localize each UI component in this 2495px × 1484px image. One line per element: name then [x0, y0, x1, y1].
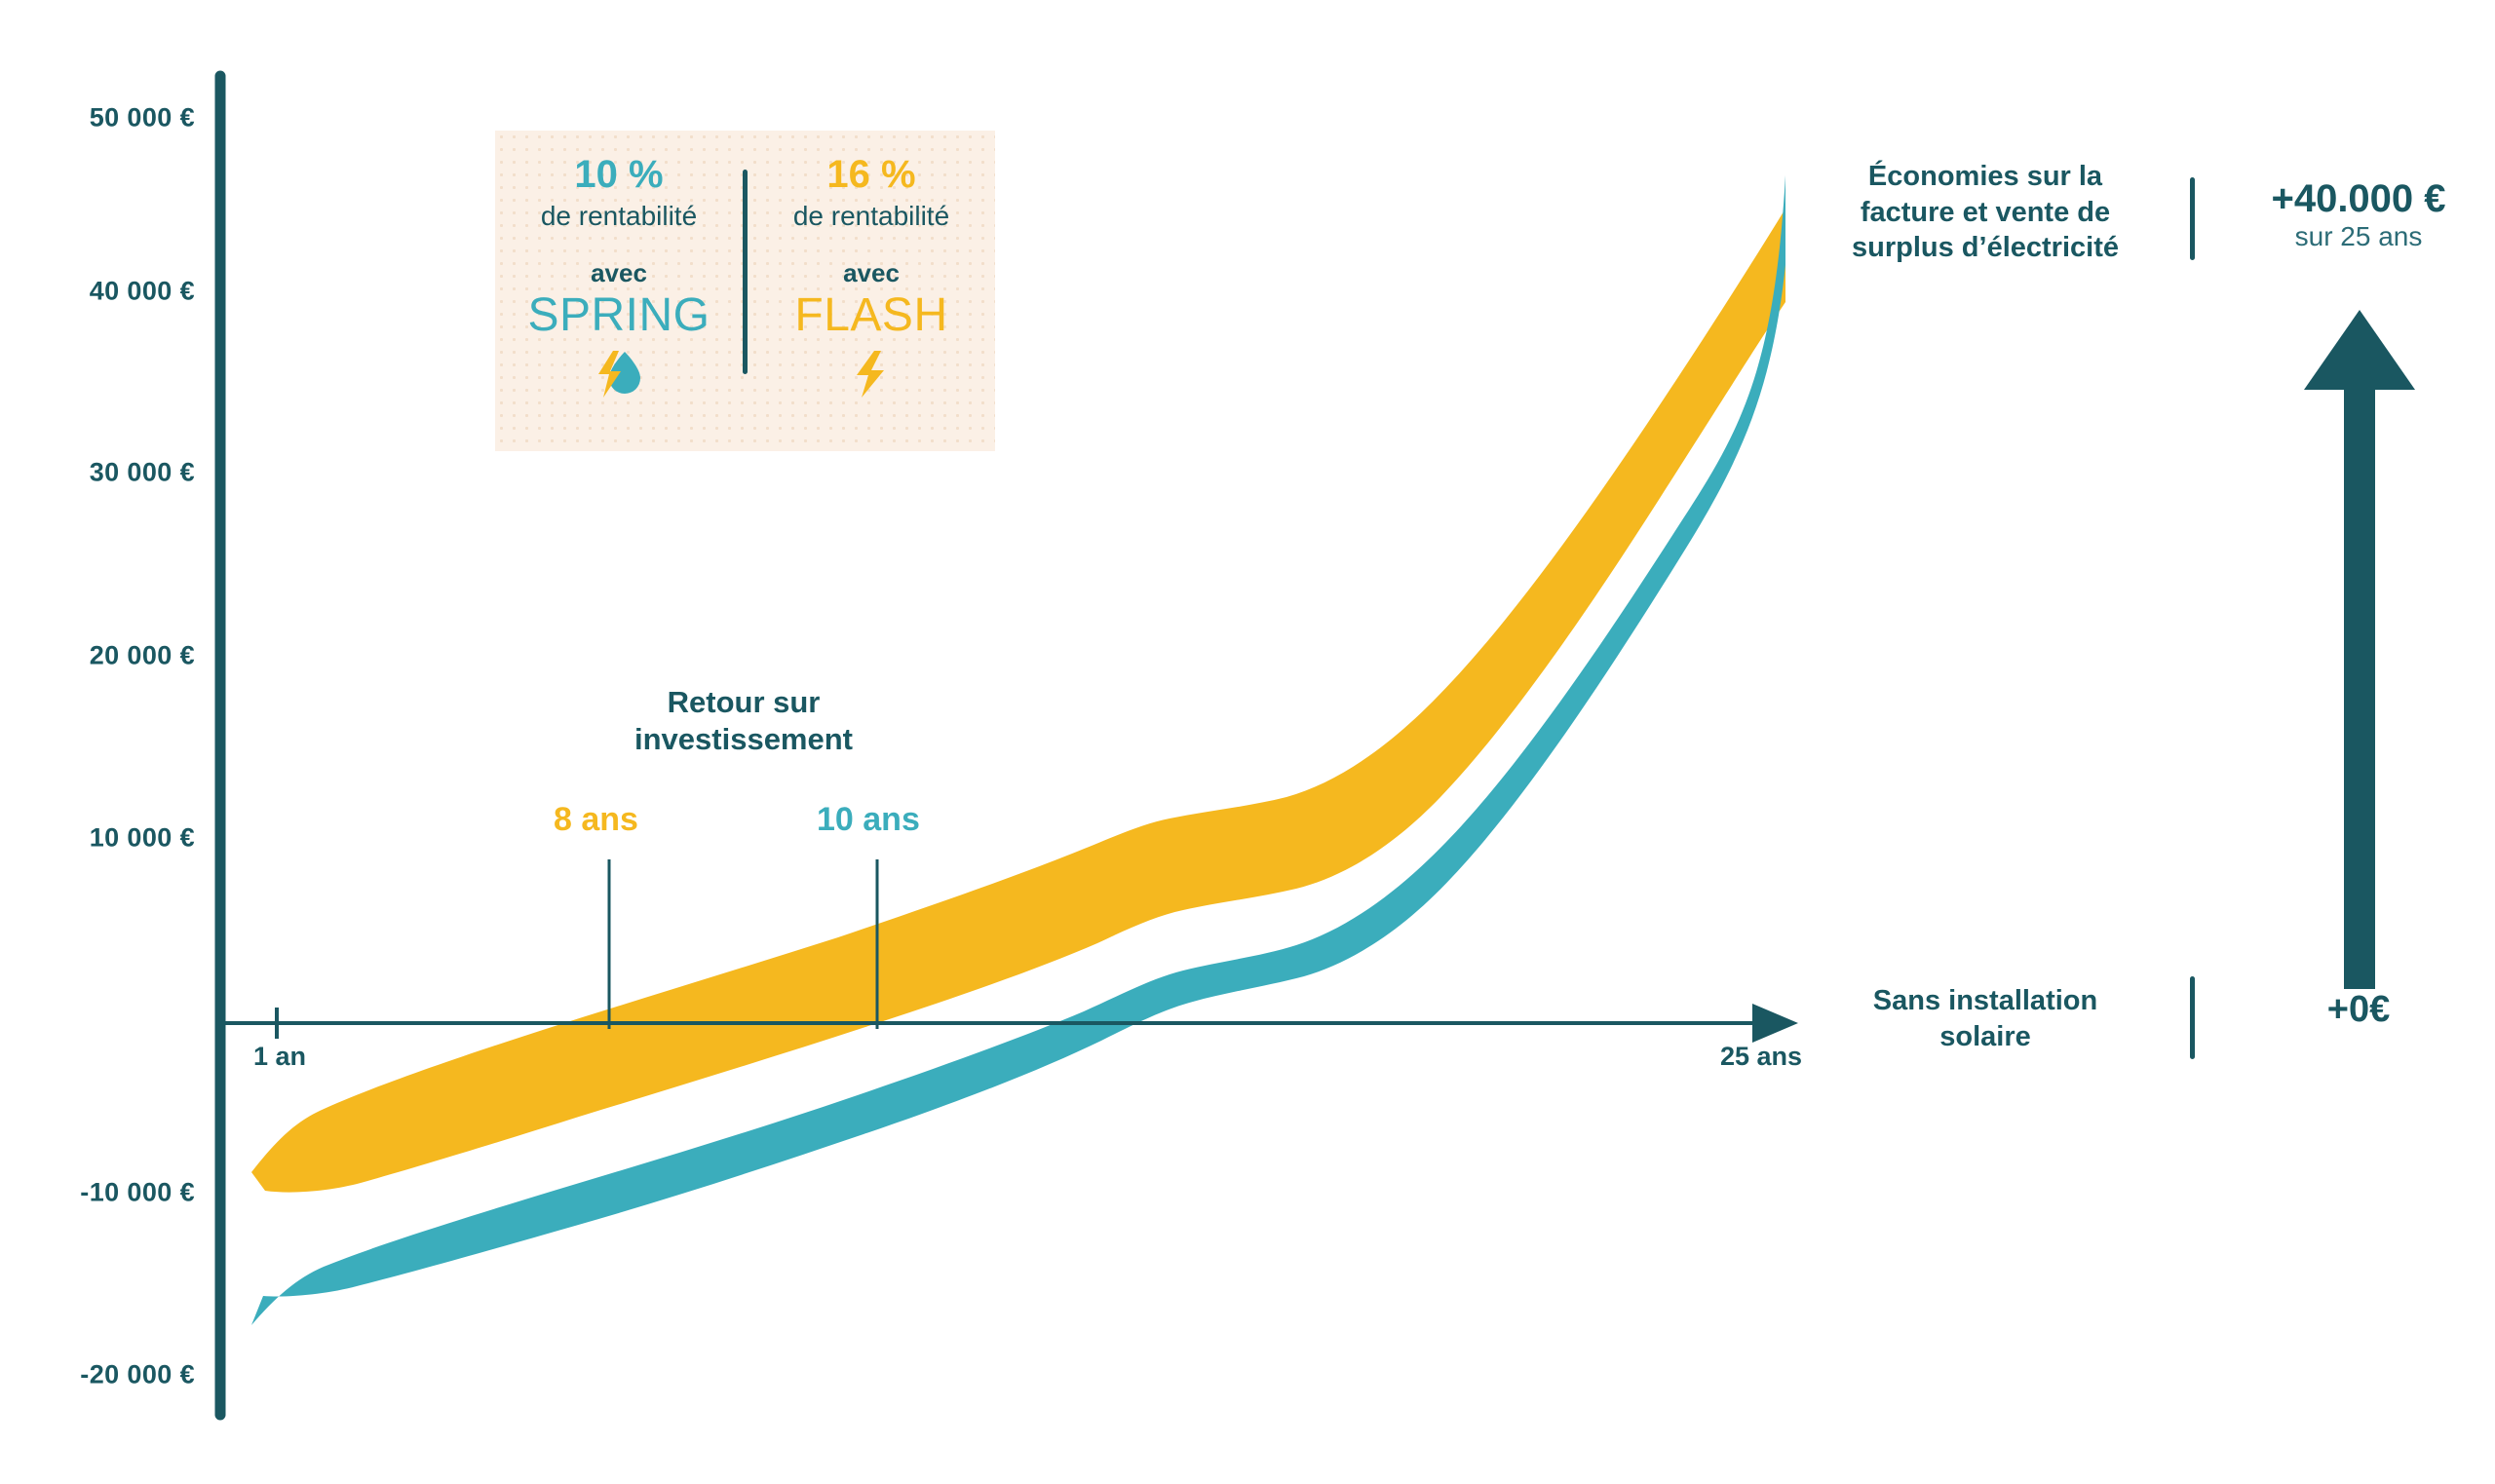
savings-description: Économies sur la facture et vente de sur…	[1834, 159, 2136, 266]
spring-brand-name: SPRING	[527, 290, 710, 342]
chart-canvas: 50 000 € 40 000 € 30 000 € 20 000 € 10 0…	[0, 0, 2495, 1484]
roi-flash-years: 8 ans	[554, 801, 638, 839]
flash-subtitle: de rentabilité	[793, 199, 949, 233]
savings-value: +40.000 €	[2232, 177, 2485, 221]
savings-line2: facture et vente de	[1834, 195, 2136, 231]
spring-percent: 10 %	[574, 152, 663, 197]
savings-value-block: +40.000 € sur 25 ans	[2232, 177, 2485, 252]
promo-column-spring: 10 % de rentabilité avec SPRING	[495, 152, 743, 400]
spring-subtitle: de rentabilité	[541, 199, 697, 233]
flash-brand-name: FLASH	[794, 290, 947, 342]
bolt-droplet-icon	[592, 348, 646, 400]
baseline-value: +0€	[2232, 989, 2485, 1031]
spring-with-label: avec	[591, 258, 647, 288]
roi-title-line1: Retour sur	[588, 684, 900, 721]
flash-percent: 16 %	[826, 152, 915, 197]
x-axis-arrow-icon	[1752, 1004, 1798, 1043]
baseline-description: Sans installation solaire	[1834, 983, 2136, 1054]
savings-up-arrow-icon	[2304, 310, 2415, 989]
baseline-divider	[2190, 976, 2195, 1059]
roi-title: Retour sur investissement	[588, 684, 900, 758]
promo-column-flash: 16 % de rentabilité avec FLASH	[748, 152, 995, 400]
series-spring-band	[251, 175, 1785, 1325]
bolt-icon	[851, 348, 892, 400]
flash-with-label: avec	[843, 258, 900, 288]
y-tick-label: 40 000 €	[90, 277, 195, 307]
profitability-promo-box: 10 % de rentabilité avec SPRING 16 % de …	[495, 131, 995, 451]
x-tick-label-25ans: 25 ans	[1720, 1042, 1802, 1072]
savings-period: sur 25 ans	[2232, 221, 2485, 252]
baseline-line2: solaire	[1834, 1019, 2136, 1055]
x-tick-label-1an: 1 an	[253, 1042, 306, 1072]
y-tick-label: 50 000 €	[90, 103, 195, 133]
roi-title-line2: investissement	[588, 721, 900, 758]
savings-divider	[2190, 177, 2195, 260]
savings-line1: Économies sur la	[1834, 159, 2136, 195]
y-tick-label: -20 000 €	[80, 1360, 195, 1390]
baseline-line1: Sans installation	[1834, 983, 2136, 1019]
baseline-value-block: +0€	[2232, 989, 2485, 1031]
y-tick-label: 10 000 €	[90, 823, 195, 854]
savings-line3: surplus d’électricité	[1834, 230, 2136, 266]
y-tick-label: 20 000 €	[90, 641, 195, 671]
y-tick-label: 30 000 €	[90, 458, 195, 488]
y-tick-label: -10 000 €	[80, 1178, 195, 1208]
roi-spring-years: 10 ans	[817, 801, 920, 839]
